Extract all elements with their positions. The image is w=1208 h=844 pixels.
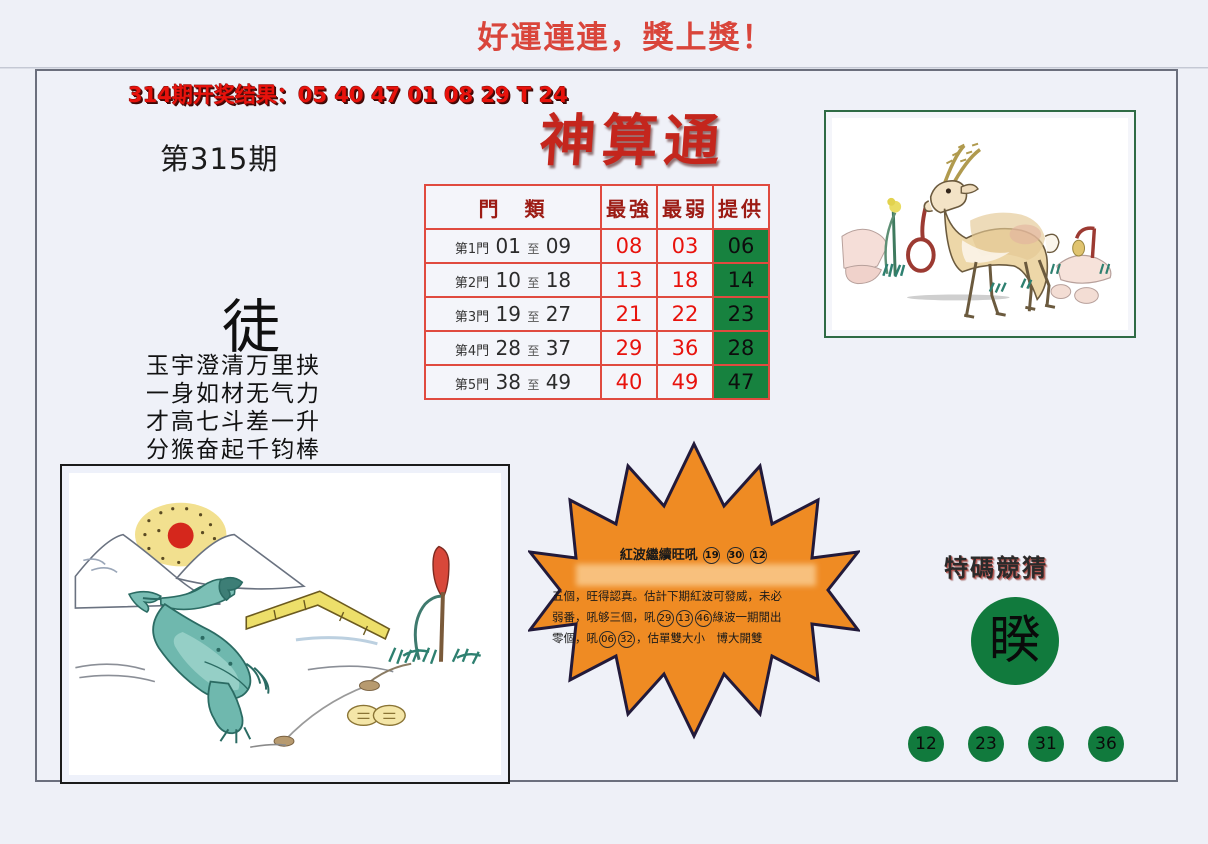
range-from: 28 xyxy=(496,336,521,360)
headline-ball: 19 xyxy=(703,547,720,564)
special-number-ball: 36 xyxy=(1088,726,1124,762)
starburst-callout: 紅波繼續旺吼 19 30 12 五個，旺得認真。估計下期紅波可發威，未必 弱番，… xyxy=(528,440,860,740)
smudge-overlay xyxy=(576,564,816,586)
cell-range: 第3門 19 至 27 xyxy=(425,297,601,331)
cell-supply: 06 xyxy=(713,229,769,263)
cell-supply: 14 xyxy=(713,263,769,297)
table-header-row: 門 類 最強 最弱 提供 xyxy=(425,185,769,229)
starburst-line: 弱番，吼够三個，吼291346綠波一期閒出 xyxy=(552,607,840,628)
starburst-line: 零個，吼0632，估單雙大小 博大開雙 xyxy=(552,628,840,649)
gate-label: 第5門 xyxy=(455,378,489,393)
column-header-strongest: 最強 xyxy=(601,185,657,229)
line-text: ，估單雙大小 博大開雙 xyxy=(636,631,763,645)
starburst-headline: 紅波繼續旺吼 19 30 12 xyxy=(528,544,860,564)
frog-drawing xyxy=(69,473,501,775)
poem-line: 玉宇澄清万里挟 xyxy=(146,352,321,380)
riddle-poem: 玉宇澄清万里挟 一身如材无气力 才高七斗差一升 分猴奋起千钧棒 xyxy=(146,352,321,464)
cell-weakest: 18 xyxy=(657,263,713,297)
table-row: 第4門 28 至 37 29 36 28 xyxy=(425,331,769,365)
starburst-body: 五個，旺得認真。估計下期紅波可發威，未必 弱番，吼够三個，吼291346綠波一期… xyxy=(552,586,840,649)
range-from: 19 xyxy=(496,302,521,326)
inline-ball: 29 xyxy=(657,610,674,627)
range-separator: 至 xyxy=(527,242,539,256)
line-text: 五個，旺得認真。估計下期紅波可發威，未必 xyxy=(552,589,782,603)
column-header-weakest: 最弱 xyxy=(657,185,713,229)
cell-supply: 47 xyxy=(713,365,769,399)
special-guess-circle: 睽 xyxy=(971,597,1059,685)
range-to: 27 xyxy=(546,302,571,326)
cell-strongest: 40 xyxy=(601,365,657,399)
range-to: 18 xyxy=(546,268,571,292)
special-guess-title: 特碼競猜 xyxy=(944,548,1048,583)
poem-line: 分猴奋起千钧棒 xyxy=(146,436,321,464)
previous-draw-results: 314期开奖结果：05 40 47 01 08 29 T 24 xyxy=(128,79,568,109)
cell-strongest: 13 xyxy=(601,263,657,297)
poem-line: 一身如材无气力 xyxy=(146,380,321,408)
headline-text: 紅波繼續旺吼 xyxy=(620,548,698,563)
cell-supply: 23 xyxy=(713,297,769,331)
forecast-table: 門 類 最強 最弱 提供 第1門 01 至 09 08 03 06 第2門 10… xyxy=(424,184,770,400)
cell-range: 第1門 01 至 09 xyxy=(425,229,601,263)
line-text: 零個，吼 xyxy=(552,631,598,645)
starburst-line: 五個，旺得認真。估計下期紅波可發威，未必 xyxy=(552,586,840,607)
special-number-list: 12 23 31 36 xyxy=(908,726,1124,762)
table-row: 第1門 01 至 09 08 03 06 xyxy=(425,229,769,263)
cell-weakest: 49 xyxy=(657,365,713,399)
range-from: 38 xyxy=(496,370,521,394)
column-header-category: 門 類 xyxy=(425,185,601,229)
cell-strongest: 08 xyxy=(601,229,657,263)
gazelle-drawing xyxy=(832,118,1128,330)
cell-weakest: 03 xyxy=(657,229,713,263)
inline-ball: 06 xyxy=(599,631,616,648)
frog-illustration xyxy=(60,464,510,784)
cell-weakest: 36 xyxy=(657,331,713,365)
inline-ball: 32 xyxy=(618,631,635,648)
range-to: 37 xyxy=(546,336,571,360)
banner-slogan: 好運連連，獎上獎！ xyxy=(478,12,775,57)
cell-range: 第2門 10 至 18 xyxy=(425,263,601,297)
headline-ball: 30 xyxy=(727,547,744,564)
range-separator: 至 xyxy=(527,378,539,392)
cell-range: 第4門 28 至 37 xyxy=(425,331,601,365)
range-separator: 至 xyxy=(527,310,539,324)
table-row: 第3門 19 至 27 21 22 23 xyxy=(425,297,769,331)
current-issue-label: 第315期 xyxy=(160,136,278,178)
gate-label: 第2門 xyxy=(455,276,489,291)
top-banner: 好運連連，獎上獎！ xyxy=(0,0,1208,68)
special-guess-character: 睽 xyxy=(989,615,1041,667)
poem-line: 才高七斗差一升 xyxy=(146,408,321,436)
gate-label: 第4門 xyxy=(455,344,489,359)
line-text: 綠波一期閒出 xyxy=(713,610,782,624)
inline-ball: 46 xyxy=(695,610,712,627)
range-separator: 至 xyxy=(527,344,539,358)
headline-ball: 12 xyxy=(750,547,767,564)
range-from: 01 xyxy=(496,234,521,258)
special-number-ball: 12 xyxy=(908,726,944,762)
line-text: 弱番，吼够三個，吼 xyxy=(552,610,656,624)
cell-weakest: 22 xyxy=(657,297,713,331)
table-row: 第2門 10 至 18 13 18 14 xyxy=(425,263,769,297)
gate-label: 第3門 xyxy=(455,310,489,325)
cell-strongest: 29 xyxy=(601,331,657,365)
range-to: 09 xyxy=(546,234,571,258)
range-separator: 至 xyxy=(527,276,539,290)
cell-strongest: 21 xyxy=(601,297,657,331)
special-number-ball: 23 xyxy=(968,726,1004,762)
gazelle-illustration xyxy=(824,110,1136,338)
cell-supply: 28 xyxy=(713,331,769,365)
special-number-ball: 31 xyxy=(1028,726,1064,762)
gate-label: 第1門 xyxy=(455,242,489,257)
brand-logo: 神算通 xyxy=(537,96,729,177)
table-row: 第5門 38 至 49 40 49 47 xyxy=(425,365,769,399)
range-to: 49 xyxy=(546,370,571,394)
cell-range: 第5門 38 至 49 xyxy=(425,365,601,399)
column-header-supply: 提供 xyxy=(713,185,769,229)
inline-ball: 13 xyxy=(676,610,693,627)
range-from: 10 xyxy=(496,268,521,292)
